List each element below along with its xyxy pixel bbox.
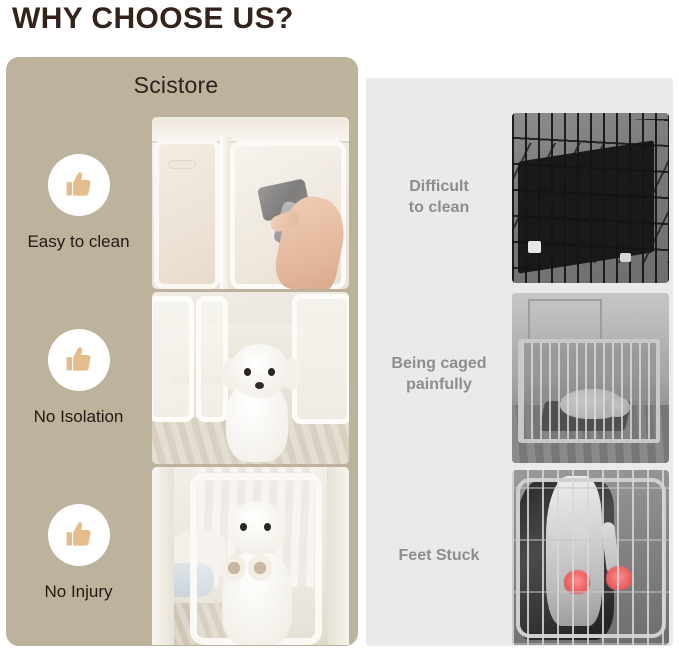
dog-paws-on-panel-photo <box>152 467 349 645</box>
drawback-label-line: Difficult <box>372 176 506 197</box>
page-title: WHY CHOOSE US? <box>12 1 294 37</box>
thumbs-up-icon <box>48 154 110 216</box>
paws-stuck-fence-photo <box>512 470 669 645</box>
thumbs-up-icon <box>48 504 110 566</box>
dog-caged-photo <box>512 293 669 463</box>
feature-easy-to-clean: Easy to clean <box>6 115 151 290</box>
feature-label: No Injury <box>44 582 112 602</box>
feature-label: Easy to clean <box>27 232 129 252</box>
drawback-label-feet-stuck: Feet Stuck <box>372 545 506 566</box>
black-wire-crate-photo <box>512 113 669 283</box>
drawback-label-line: painfully <box>372 374 506 395</box>
why-choose-us-infographic: WHY CHOOSE US? Scistore Easy to clean No… <box>0 0 679 650</box>
dog-standing-open-pen-photo <box>152 292 349 464</box>
drawback-label-line: Feet Stuck <box>372 545 506 566</box>
hand-wiping-panel-photo <box>152 117 349 289</box>
drawback-label-line: to clean <box>372 197 506 218</box>
drawback-label-difficult-to-clean: Difficult to clean <box>372 176 506 218</box>
feature-no-injury: No Injury <box>6 465 151 640</box>
feature-label: No Isolation <box>34 407 124 427</box>
feature-no-isolation: No Isolation <box>6 290 151 465</box>
thumbs-up-icon <box>48 329 110 391</box>
drawback-label-being-caged-painfully: Being caged painfully <box>372 353 506 395</box>
drawback-label-line: Being caged <box>372 353 506 374</box>
brand-name: Scistore <box>0 72 352 99</box>
